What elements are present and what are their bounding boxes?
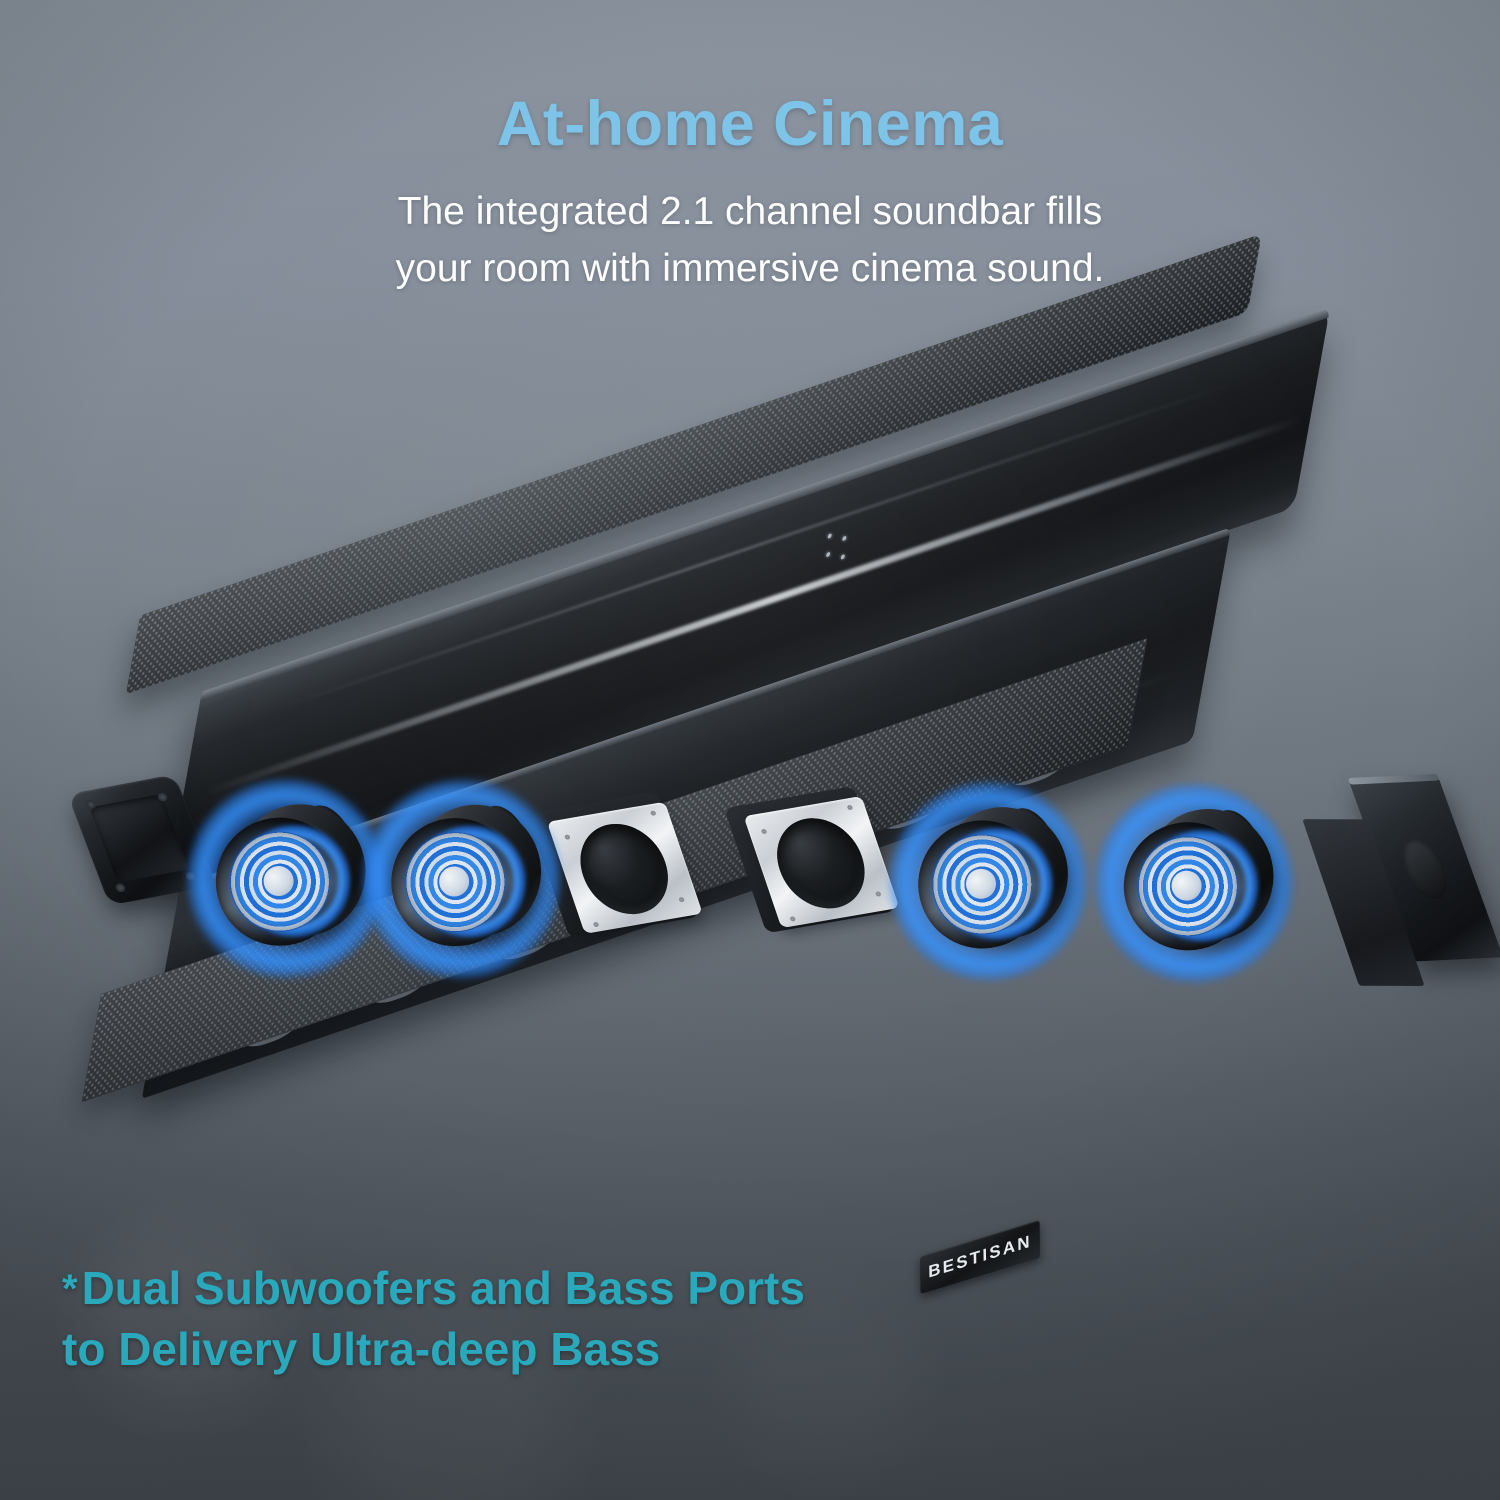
left-end-cap-recess — [89, 794, 189, 883]
caption-line-1: *Dual Subwoofers and Bass Ports — [62, 1258, 962, 1319]
caption-line-1-text: Dual Subwoofers and Bass Ports — [82, 1262, 805, 1314]
subtitle-line-2: your room with immersive cinema sound. — [0, 241, 1500, 298]
page-headline: At-home Cinema — [0, 88, 1500, 160]
led-indicator-dot — [826, 552, 831, 558]
speaker-driver — [194, 786, 379, 971]
led-indicator-dot — [828, 533, 833, 539]
speaker-driver — [369, 786, 554, 971]
caption-line-2: to Delivery Ultra-deep Bass — [62, 1319, 962, 1380]
page-subtitle: The integrated 2.1 channel soundbar fill… — [0, 184, 1500, 297]
caption-asterisk: * — [62, 1267, 78, 1311]
right-end-cap-edge-highlight — [1348, 774, 1440, 785]
led-indicator-dot — [842, 536, 847, 542]
product-image-canvas: At-home Cinema The integrated 2.1 channe… — [0, 0, 1500, 1500]
speaker-driver — [896, 789, 1081, 974]
feature-caption: *Dual Subwoofers and Bass Ports to Deliv… — [62, 1258, 962, 1379]
right-end-cap-emboss — [1395, 838, 1454, 900]
led-indicator-dot — [841, 554, 846, 560]
subtitle-line-1: The integrated 2.1 channel soundbar fill… — [0, 184, 1500, 241]
speaker-driver — [1102, 790, 1287, 975]
end-cap-boss — [114, 883, 126, 893]
